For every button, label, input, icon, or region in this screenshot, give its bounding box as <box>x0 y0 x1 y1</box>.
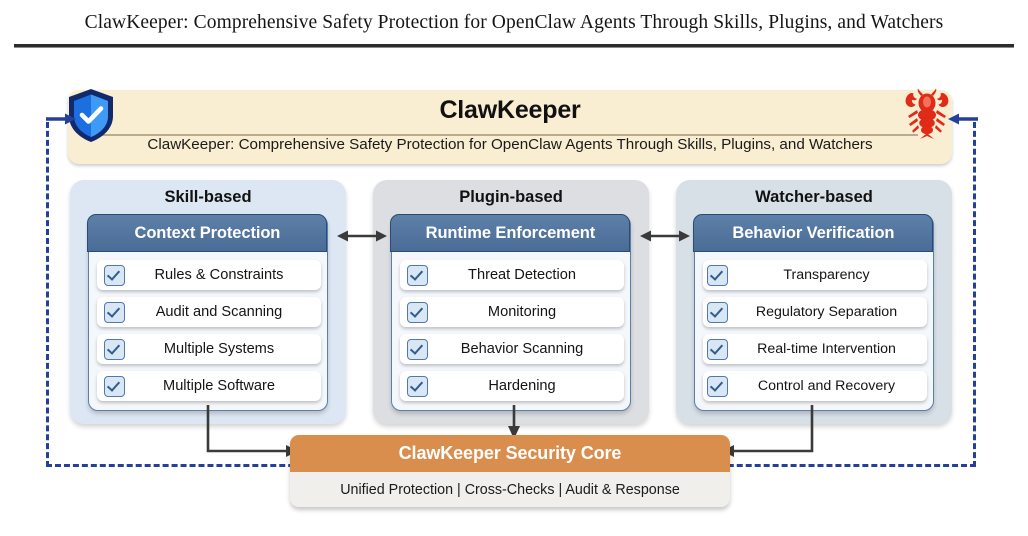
item-list-watcher: Transparency Regulatory Separation Real-… <box>703 260 927 408</box>
column-title-skill: Skill-based <box>70 188 346 207</box>
list-item-label: Transparency <box>728 267 927 283</box>
list-item-label: Real-time Intervention <box>728 341 927 357</box>
inner-header-behavior-verification: Behavior Verification <box>693 214 933 252</box>
list-item-label: Audit and Scanning <box>125 304 321 320</box>
list-item-label: Multiple Software <box>125 378 321 394</box>
list-item-label: Threat Detection <box>428 267 624 283</box>
list-item[interactable]: Multiple Software <box>97 371 321 401</box>
inner-card-watcher: Behavior Verification Transparency Regul… <box>694 215 934 411</box>
list-item[interactable]: Transparency <box>703 260 927 290</box>
title-divider <box>14 44 1014 48</box>
list-item[interactable]: Regulatory Separation <box>703 297 927 327</box>
banner-subtitle: ClawKeeper: Comprehensive Safety Protect… <box>68 136 952 153</box>
page-title: ClawKeeper: Comprehensive Safety Protect… <box>0 12 1028 34</box>
checkbox-checked-icon[interactable] <box>407 302 428 323</box>
feedback-arrow-right-icon <box>946 108 980 130</box>
list-item[interactable]: Audit and Scanning <box>97 297 321 327</box>
checkbox-checked-icon[interactable] <box>707 376 728 397</box>
connector-skill-to-core <box>200 405 304 460</box>
bidirectional-arrow-skill-plugin-icon <box>336 225 388 247</box>
checkbox-checked-icon[interactable] <box>707 302 728 323</box>
inner-card-plugin: Runtime Enforcement Threat Detection Mon… <box>391 215 631 411</box>
banner-card: ClawKeeper ClawKeeper: Comprehensive Saf… <box>68 90 952 164</box>
inner-card-skill: Context Protection Rules & Constraints A… <box>88 215 328 411</box>
list-item[interactable]: Threat Detection <box>400 260 624 290</box>
diagram-canvas: ClawKeeper: Comprehensive Safety Protect… <box>0 0 1028 536</box>
checkbox-checked-icon[interactable] <box>407 339 428 360</box>
list-item[interactable]: Real-time Intervention <box>703 334 927 364</box>
list-item-label: Monitoring <box>428 304 624 320</box>
security-core-title: ClawKeeper Security Core <box>290 435 730 472</box>
checkbox-checked-icon[interactable] <box>707 265 728 286</box>
list-item[interactable]: Hardening <box>400 371 624 401</box>
item-list-plugin: Threat Detection Monitoring Behavior Sca… <box>400 260 624 408</box>
checkbox-checked-icon[interactable] <box>407 376 428 397</box>
banner-title: ClawKeeper <box>68 96 952 125</box>
connector-watcher-to-core <box>716 405 820 460</box>
checkbox-checked-icon[interactable] <box>104 376 125 397</box>
list-item-label: Hardening <box>428 378 624 394</box>
list-item-label: Rules & Constraints <box>125 267 321 283</box>
inner-header-runtime-enforcement: Runtime Enforcement <box>390 214 630 252</box>
column-plugin-based: Plugin-based Runtime Enforcement Threat … <box>373 180 649 424</box>
column-skill-based: Skill-based Context Protection Rules & C… <box>70 180 346 424</box>
inner-header-context-protection: Context Protection <box>87 214 327 252</box>
list-item-label: Control and Recovery <box>728 378 927 394</box>
column-title-watcher: Watcher-based <box>676 188 952 207</box>
list-item[interactable]: Monitoring <box>400 297 624 327</box>
security-core-subtitle: Unified Protection | Cross-Checks | Audi… <box>290 472 730 507</box>
list-item-label: Behavior Scanning <box>428 341 624 357</box>
list-item[interactable]: Rules & Constraints <box>97 260 321 290</box>
list-item[interactable]: Behavior Scanning <box>400 334 624 364</box>
bidirectional-arrow-plugin-watcher-icon <box>639 225 691 247</box>
checkbox-checked-icon[interactable] <box>104 302 125 323</box>
checkbox-checked-icon[interactable] <box>407 265 428 286</box>
column-watcher-based: Watcher-based Behavior Verification Tran… <box>676 180 952 424</box>
list-item-label: Regulatory Separation <box>728 304 927 320</box>
security-core-card: ClawKeeper Security Core Unified Protect… <box>290 435 730 507</box>
list-item[interactable]: Multiple Systems <box>97 334 321 364</box>
checkbox-checked-icon[interactable] <box>707 339 728 360</box>
checkbox-checked-icon[interactable] <box>104 339 125 360</box>
item-list-skill: Rules & Constraints Audit and Scanning M… <box>97 260 321 408</box>
column-title-plugin: Plugin-based <box>373 188 649 207</box>
list-item-label: Multiple Systems <box>125 341 321 357</box>
checkbox-checked-icon[interactable] <box>104 265 125 286</box>
feedback-arrow-left-icon <box>44 108 78 130</box>
list-item[interactable]: Control and Recovery <box>703 371 927 401</box>
